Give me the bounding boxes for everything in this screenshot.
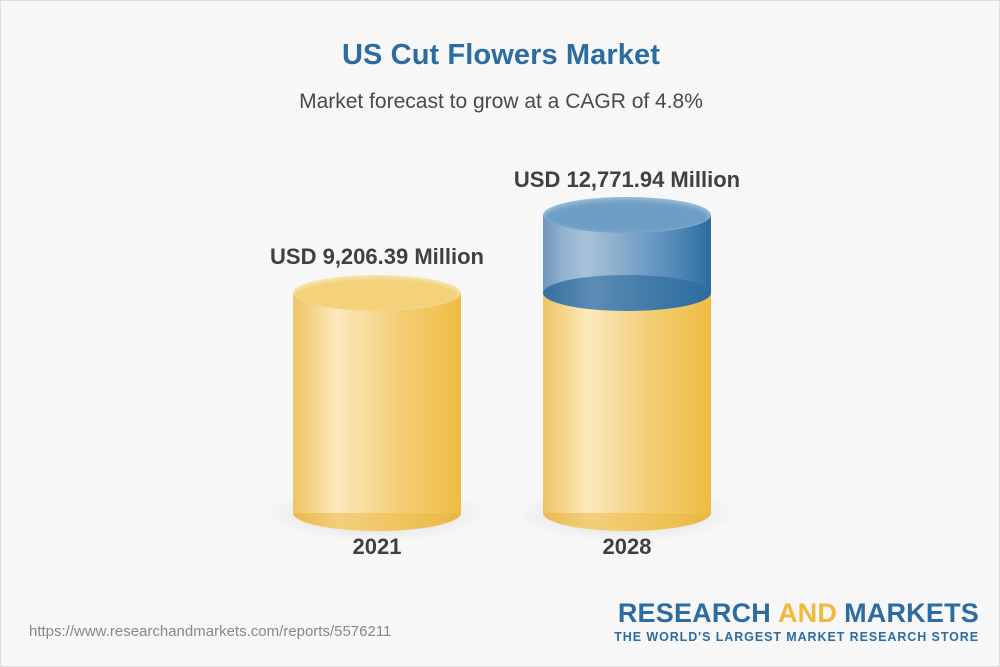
bar-2021-body bbox=[293, 293, 461, 513]
bar-value-label-2028: USD 12,771.94 Million bbox=[497, 167, 757, 193]
logo-wordmark: RESEARCHANDMARKETS bbox=[614, 599, 979, 627]
infographic-chart: US Cut Flowers Market Market forecast to… bbox=[0, 0, 1000, 667]
bar-2028-top-cap bbox=[543, 197, 711, 233]
bar-2021 bbox=[293, 275, 461, 531]
chart-plot-area: USD 9,206.39 Million 2021 USD 12,771.94 … bbox=[1, 1, 1000, 667]
bar-2021-top-cap bbox=[293, 275, 461, 311]
bar-value-label-2021: USD 9,206.39 Million bbox=[257, 244, 497, 270]
brand-logo: RESEARCHANDMARKETS THE WORLD'S LARGEST M… bbox=[614, 599, 979, 644]
bar-2028-segment-divider bbox=[543, 275, 711, 311]
bar-category-label-2028: 2028 bbox=[547, 534, 707, 560]
source-url[interactable]: https://www.researchandmarkets.com/repor… bbox=[29, 623, 391, 640]
logo-tagline: THE WORLD'S LARGEST MARKET RESEARCH STOR… bbox=[614, 630, 979, 644]
logo-word-markets: MARKETS bbox=[844, 598, 979, 628]
bar-2028 bbox=[543, 197, 711, 531]
logo-word-and: AND bbox=[778, 598, 837, 628]
bar-2028-base-segment bbox=[543, 293, 711, 513]
bar-category-label-2021: 2021 bbox=[297, 534, 457, 560]
logo-word-research: RESEARCH bbox=[618, 598, 771, 628]
